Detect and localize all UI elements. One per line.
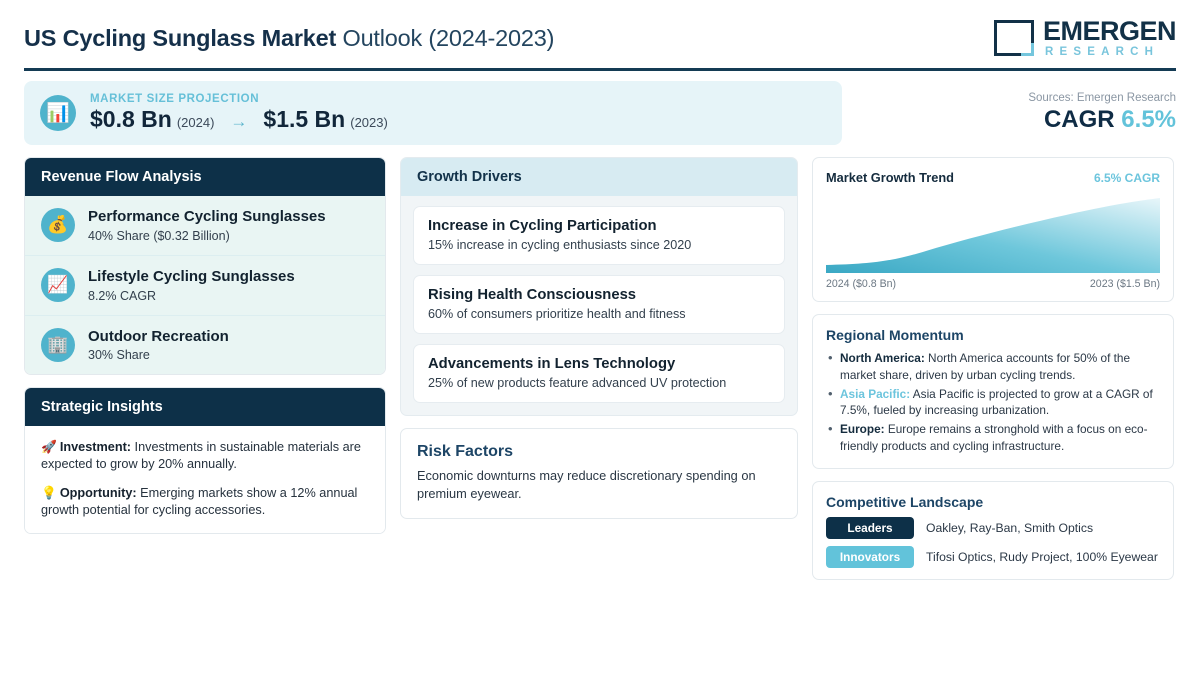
middle-column: Growth Drivers Increase in Cycling Parti… [400, 157, 798, 519]
insight-label: Opportunity: [60, 486, 137, 500]
competitive-row: Leaders Oakley, Ray-Ban, Smith Optics [826, 517, 1160, 539]
market-growth-trend-header: Market Growth Trend 6.5% CAGR [826, 170, 1160, 185]
area-chart [826, 195, 1160, 273]
regional-momentum-heading: Regional Momentum [826, 327, 1160, 343]
market-growth-trend-heading: Market Growth Trend [826, 170, 954, 185]
region-list-item: Europe: Europe remains a stronghold with… [826, 421, 1160, 455]
page-title: US Cycling Sunglass Market Outlook (2024… [24, 25, 554, 52]
region-label: North America: [840, 351, 925, 365]
left-column: Revenue Flow Analysis 💰 Performance Cycl… [24, 157, 386, 534]
cagr-summary: Sources: Emergen Research CAGR 6.5% [842, 81, 1176, 145]
region-label: Asia Pacific: [840, 387, 910, 401]
cagr-label: CAGR [1044, 106, 1115, 133]
revenue-row-title: Outdoor Recreation [88, 328, 229, 347]
revenue-row-title: Performance Cycling Sunglasses [88, 208, 326, 227]
emergen-research-logo: EMERGEN RESEARCH [994, 18, 1176, 59]
growth-driver-card: Increase in Cycling Participation 15% in… [413, 206, 785, 265]
growth-driver-sub: 60% of consumers prioritize health and f… [428, 307, 770, 321]
revenue-row: 💰 Performance Cycling Sunglasses 40% Sha… [25, 196, 385, 256]
revenue-flow-panel: Revenue Flow Analysis 💰 Performance Cycl… [24, 157, 386, 375]
market-size-banner-row: 📊 MARKET SIZE PROJECTION $0.8 Bn (2024) … [24, 81, 1176, 145]
cagr-value: 6.5% [1121, 106, 1176, 133]
growth-drivers-panel: Growth Drivers Increase in Cycling Parti… [400, 157, 798, 416]
right-column: Market Growth Trend 6.5% CAGR [812, 157, 1174, 580]
office-building-icon: 🏢 [41, 328, 75, 362]
market-value-start: $0.8 Bn [90, 106, 172, 133]
innovators-companies: Tifosi Optics, Rudy Project, 100% Eyewea… [926, 550, 1158, 564]
page-header: US Cycling Sunglass Market Outlook (2024… [24, 0, 1176, 64]
revenue-row-title: Lifestyle Cycling Sunglasses [88, 268, 295, 287]
strategic-insights-heading: Strategic Insights [25, 388, 385, 426]
page-title-strong: US Cycling Sunglass Market [24, 25, 336, 51]
arrow-right-icon: → [230, 112, 247, 132]
growth-driver-title: Advancements in Lens Technology [428, 356, 770, 372]
cagr-headline: CAGR 6.5% [1044, 106, 1176, 134]
page-title-light: Outlook (2024-2023) [336, 25, 554, 51]
header-divider [24, 68, 1176, 71]
growth-driver-card: Rising Health Consciousness 60% of consu… [413, 275, 785, 334]
logo-subtitle: RESEARCH [1043, 47, 1176, 59]
region-list-item: North America: North America accounts fo… [826, 350, 1160, 384]
risk-factors-heading: Risk Factors [417, 443, 781, 461]
logo-name: EMERGEN [1043, 18, 1176, 45]
money-bag-icon: 💰 [41, 208, 75, 242]
revenue-row-sub: 30% Share [88, 348, 229, 362]
revenue-row-text: Performance Cycling Sunglasses 40% Share… [88, 208, 326, 243]
revenue-row-sub: 40% Share ($0.32 Billion) [88, 229, 326, 243]
market-size-content: MARKET SIZE PROJECTION $0.8 Bn (2024) → … [90, 93, 388, 133]
logo-square-icon [994, 20, 1034, 56]
growth-driver-title: Increase in Cycling Participation [428, 218, 770, 234]
market-value-end: $1.5 Bn [263, 106, 345, 133]
sources-text: Sources: Emergen Research [1028, 92, 1176, 104]
insight-label: Investment: [60, 440, 131, 454]
axis-label-right: 2023 ($1.5 Bn) [1090, 278, 1160, 290]
strategic-insights-panel: Strategic Insights 🚀Investment: Investme… [24, 387, 386, 534]
strategic-insights-body: 🚀Investment: Investments in sustainable … [25, 426, 385, 533]
rocket-icon: 🚀 [41, 440, 57, 454]
revenue-row-text: Lifestyle Cycling Sunglasses 8.2% CAGR [88, 268, 295, 303]
region-list-item: Asia Pacific: Asia Pacific is projected … [826, 386, 1160, 420]
light-bulb-icon: 💡 [41, 486, 57, 500]
market-growth-trend-card: Market Growth Trend 6.5% CAGR [812, 157, 1174, 302]
area-chart-axis: 2024 ($0.8 Bn) 2023 ($1.5 Bn) [826, 278, 1160, 290]
competitive-row: Innovators Tifosi Optics, Rudy Project, … [826, 546, 1160, 568]
bar-chart-icon: 📊 [40, 95, 76, 131]
growth-driver-sub: 15% increase in cycling enthusiasts sinc… [428, 238, 770, 252]
revenue-row-sub: 8.2% CAGR [88, 289, 295, 303]
chart-increasing-icon: 📈 [41, 268, 75, 302]
regional-momentum-list: North America: North America accounts fo… [826, 350, 1160, 455]
leaders-badge: Leaders [826, 517, 914, 539]
revenue-row: 🏢 Outdoor Recreation 30% Share [25, 316, 385, 375]
revenue-row: 📈 Lifestyle Cycling Sunglasses 8.2% CAGR [25, 256, 385, 316]
regional-momentum-card: Regional Momentum North America: North A… [812, 314, 1174, 469]
market-year-start: (2024) [177, 115, 215, 130]
content-columns: Revenue Flow Analysis 💰 Performance Cycl… [24, 157, 1176, 580]
revenue-row-text: Outdoor Recreation 30% Share [88, 328, 229, 363]
growth-drivers-heading: Growth Drivers [401, 158, 797, 196]
logo-wordmark: EMERGEN RESEARCH [1043, 18, 1176, 59]
axis-label-left: 2024 ($0.8 Bn) [826, 278, 896, 290]
risk-factors-text: Economic downturns may reduce discretion… [417, 467, 781, 502]
area-chart-path [826, 198, 1160, 273]
market-year-end: (2023) [350, 115, 388, 130]
region-text: Europe remains a stronghold with a focus… [840, 422, 1148, 453]
market-size-figures: $0.8 Bn (2024) → $1.5 Bn (2023) [90, 106, 388, 133]
competitive-landscape-heading: Competitive Landscape [826, 494, 1160, 510]
insight-item: 💡Opportunity: Emerging markets show a 12… [41, 485, 369, 519]
growth-drivers-body: Increase in Cycling Participation 15% in… [401, 196, 797, 415]
region-label: Europe: [840, 422, 885, 436]
innovators-badge: Innovators [826, 546, 914, 568]
market-size-label: MARKET SIZE PROJECTION [90, 93, 388, 105]
growth-driver-sub: 25% of new products feature advanced UV … [428, 376, 770, 390]
competitive-landscape-card: Competitive Landscape Leaders Oakley, Ra… [812, 481, 1174, 580]
area-chart-svg [826, 195, 1160, 273]
risk-factors-card: Risk Factors Economic downturns may redu… [400, 428, 798, 519]
market-size-banner: 📊 MARKET SIZE PROJECTION $0.8 Bn (2024) … [24, 81, 842, 145]
leaders-companies: Oakley, Ray-Ban, Smith Optics [926, 521, 1093, 535]
revenue-flow-heading: Revenue Flow Analysis [25, 158, 385, 196]
infographic-page: US Cycling Sunglass Market Outlook (2024… [0, 0, 1200, 700]
market-growth-trend-badge: 6.5% CAGR [1094, 171, 1160, 185]
growth-driver-title: Rising Health Consciousness [428, 287, 770, 303]
growth-driver-card: Advancements in Lens Technology 25% of n… [413, 344, 785, 403]
insight-item: 🚀Investment: Investments in sustainable … [41, 439, 369, 473]
